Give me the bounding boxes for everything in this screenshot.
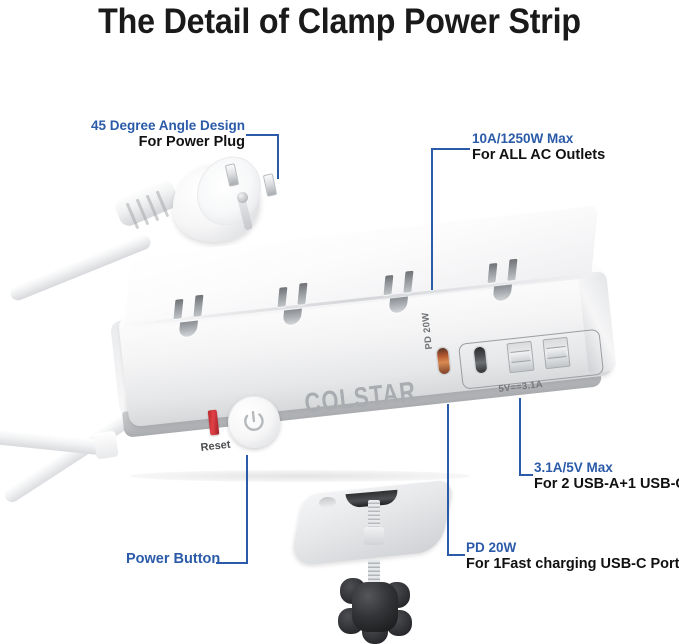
callout-amperage: 10A/1250W Max For ALL AC Outlets [472, 131, 605, 163]
knob-core [352, 582, 398, 632]
power-strip: COLSTAR Reset 5V==3.1A PD 20W [108, 262, 608, 492]
callout-usb-highlight: 3.1A/5V Max [534, 460, 679, 476]
leader-line-usb [519, 404, 521, 475]
leader-line-angle [246, 134, 279, 136]
callout-pd-highlight: PD 20W [466, 540, 679, 556]
callout-angle-highlight: 45 Degree Angle Design [60, 118, 245, 134]
leader-line-power-button [216, 562, 248, 564]
ac-outlet-icon [476, 256, 539, 313]
usb-a-tongue [510, 350, 530, 363]
outlet-slot-left [174, 299, 184, 319]
outlet-slot-right [297, 283, 307, 305]
clamp-screw-upper [368, 500, 380, 530]
infographic-canvas: The Detail of Clamp Power Strip [0, 0, 679, 644]
leader-line-angle [277, 134, 279, 179]
leader-line-pd [447, 554, 465, 556]
ac-outlet-icon [266, 280, 329, 337]
plug-pin-right [263, 173, 277, 197]
callout-pd-sub: For 1Fast charging USB-C Ports [466, 556, 679, 573]
outlet-slot-left [488, 263, 498, 283]
clamp-screw-collar [364, 527, 384, 545]
outlet-slot-right [193, 295, 203, 317]
outlet-ground-hole [389, 296, 408, 313]
leader-line-amperage [431, 148, 433, 290]
clamp-knob [338, 574, 412, 640]
callout-angle-sub: For Power Plug [60, 134, 245, 151]
outlet-slot-left [278, 287, 288, 307]
usb-a-port-icon[interactable] [506, 341, 534, 374]
outlet-ground-hole [283, 308, 302, 325]
outlet-slot-left [384, 275, 394, 295]
plug-ground-screw [237, 192, 248, 203]
callout-usb-sub: For 2 USB-A+1 USB-C [534, 476, 679, 493]
leader-line-power-button [246, 455, 248, 563]
callout-amperage-highlight: 10A/1250W Max [472, 131, 605, 147]
callout-power-button-highlight: Power Button [126, 551, 220, 568]
leader-line-amperage [432, 148, 470, 150]
callout-angle-design: 45 Degree Angle Design For Power Plug [60, 118, 245, 150]
ac-outlet-icon [162, 292, 225, 349]
outlet-slot-right [403, 271, 413, 293]
callout-usb-output: 3.1A/5V Max For 2 USB-A+1 USB-C [534, 460, 679, 492]
callout-amperage-sub: For ALL AC Outlets [472, 147, 605, 164]
usb-a-port-icon[interactable] [542, 337, 570, 370]
callout-power-button: Power Button [126, 551, 220, 568]
outlet-slot-right [507, 259, 517, 281]
leader-line-pd [447, 404, 449, 556]
reset-label: Reset [200, 439, 231, 454]
callout-pd: PD 20W For 1Fast charging USB-C Ports [466, 540, 679, 572]
outlet-ground-hole [493, 284, 512, 301]
usb-a-tongue [546, 346, 566, 359]
power-icon [240, 407, 269, 436]
outlet-ground-hole [179, 320, 198, 337]
page-title: The Detail of Clamp Power Strip [27, 2, 652, 42]
leader-line-usb [519, 474, 533, 476]
